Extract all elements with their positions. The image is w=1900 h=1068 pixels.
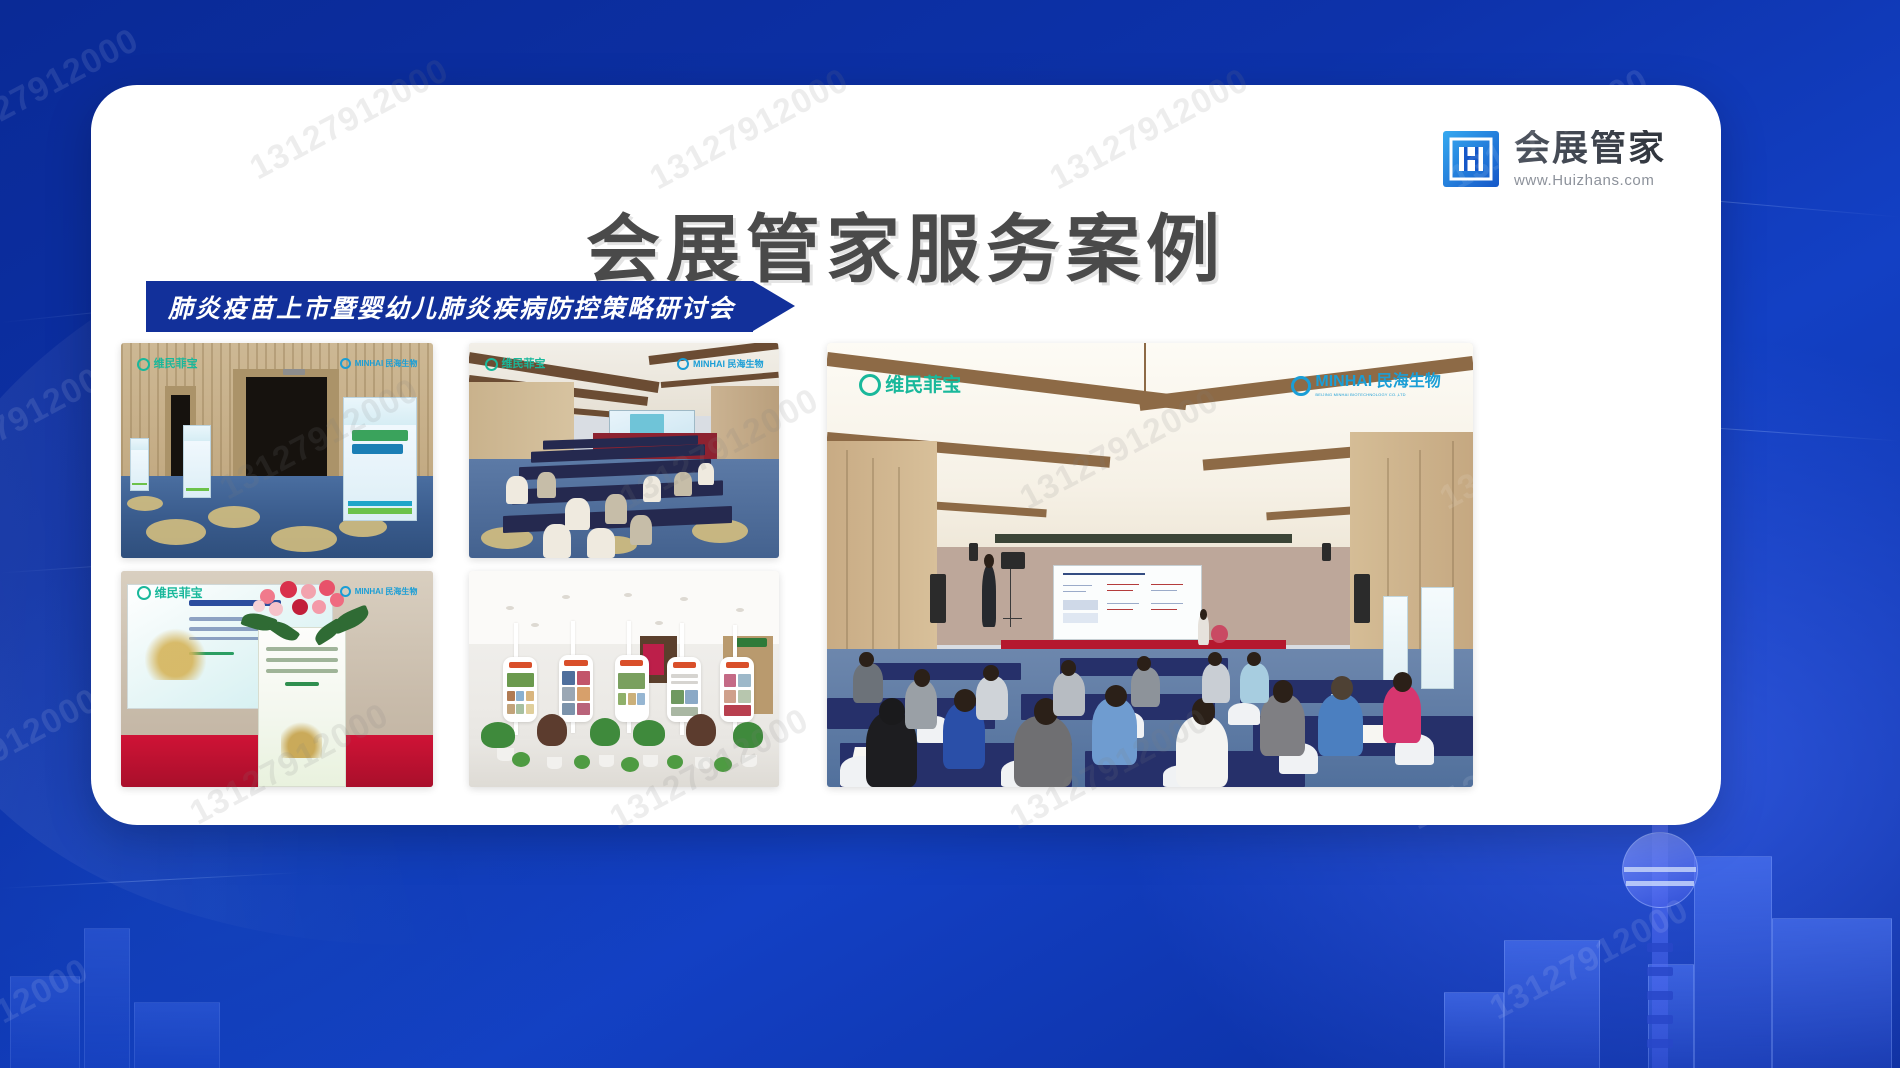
banner-arrow-icon	[753, 281, 795, 331]
photo-watermark-logo-right: MINHAI 民海生物 BEIJING MINHAI BIOTECHNOLOGY…	[1291, 374, 1440, 397]
photo-watermark-logo-right: MINHAI 民海生物	[340, 586, 418, 597]
gallery-photo[interactable]: 维民菲宝 MINHAI 民海生物 BEIJING MINHAI BIOTECHN…	[827, 343, 1473, 787]
photo-watermark-logo-left: 维民菲宝	[485, 358, 546, 371]
photo-audience-session: 维民菲宝 MINHAI 民海生物 BEIJING MINHAI BIOTECHN…	[827, 343, 1473, 787]
gallery-photo[interactable]	[469, 571, 779, 787]
photo-exhibition-boards	[469, 571, 779, 787]
section-banner-label: 肺炎疫苗上市暨婴幼儿肺炎疾病防控策略研讨会	[168, 289, 735, 325]
brand-name: 会展管家	[1514, 130, 1666, 166]
photo-watermark-logo-left: 维民菲宝	[137, 586, 203, 600]
content-card: 会展管家 www.Huizhans.com 会展管家服务案例 肺炎疫苗上市暨婴幼…	[91, 85, 1721, 825]
brand-logo[interactable]: 会展管家 www.Huizhans.com	[1442, 130, 1666, 188]
huizhans-logo-icon	[1442, 130, 1500, 188]
gallery-photo[interactable]: 维民菲宝 MINHAI 民海生物	[121, 571, 433, 787]
photo-stage-backdrop: 维民菲宝 MINHAI 民海生物	[121, 571, 433, 787]
skyline-left-decoration	[0, 878, 300, 1068]
photo-watermark-logo-left: 维民菲宝	[859, 374, 961, 396]
photo-gallery: 维民菲宝 MINHAI 民海生物	[121, 343, 1693, 787]
gallery-photo[interactable]: 维民菲宝 MINHAI 民海生物	[121, 343, 433, 558]
photo-venue-entrance: 维民菲宝 MINHAI 民海生物	[121, 343, 433, 558]
photo-watermark-logo-right: MINHAI 民海生物	[340, 358, 418, 369]
photo-watermark-logo-right: MINHAI 民海生物	[677, 358, 764, 370]
photo-watermark-logo-left: 维民菲宝	[137, 358, 198, 371]
gallery-photo[interactable]: 维民菲宝 MINHAI 民海生物	[469, 343, 779, 558]
section-banner: 肺炎疫苗上市暨婴幼儿肺炎疾病防控策略研讨会	[146, 281, 753, 332]
brand-url: www.Huizhans.com	[1514, 173, 1666, 188]
photo-conference-hall-empty: 维民菲宝 MINHAI 民海生物	[469, 343, 779, 558]
